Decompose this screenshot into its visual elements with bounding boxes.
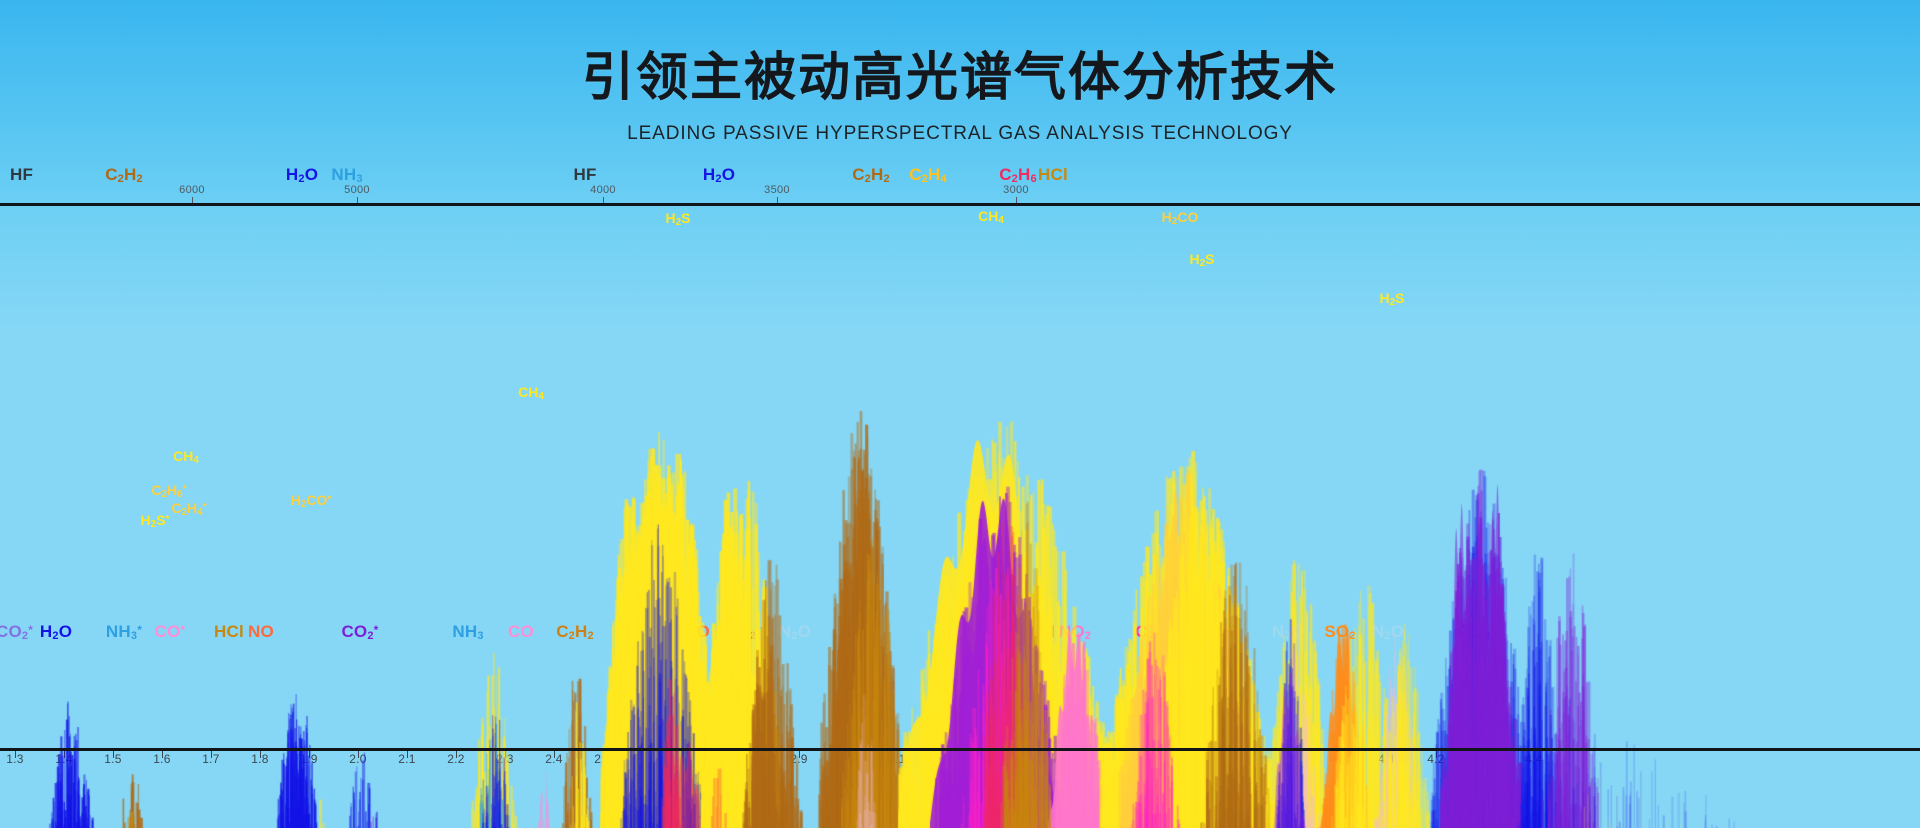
gas-label-c2h6: C2H6 — [999, 165, 1037, 185]
gas-label-ch4-mid: CH4 — [518, 384, 544, 402]
gas-label-ch4-left: CH4 — [173, 448, 199, 466]
page-title: 引领主被动高光谱气体分析技术 — [0, 50, 1920, 107]
spectral-banner: 引领主被动高光谱气体分析技术 LEADING PASSIVE HYPERSPEC… — [0, 0, 1920, 828]
gas-label-h2s-star: H2S* — [141, 512, 170, 530]
top-tick-label: 3000 — [1003, 184, 1029, 196]
gas-label-c2h2: C2H2 — [105, 165, 143, 185]
gas-label-h2o: H2O — [703, 165, 735, 185]
spectrum-canvas — [0, 406, 1920, 828]
gas-label-h2co-star: H2CO* — [291, 492, 332, 510]
gas-label-hcl: HCl — [1038, 165, 1068, 185]
gas-label-h2s-2: H2S — [1189, 251, 1214, 269]
axis-bottom-line — [0, 748, 1920, 751]
gas-label-h2s-1: H2S — [665, 210, 690, 228]
gas-label-c2h4-star: C2H4* — [171, 500, 206, 518]
top-tick-label: 3500 — [764, 184, 790, 196]
spectrum-plot — [0, 200, 1920, 748]
top-tick-label: 6000 — [179, 184, 205, 196]
gas-label-hf: HF — [10, 165, 33, 185]
gas-label-h2s-3: H2S — [1379, 290, 1404, 308]
gas-label-c2h6-star: C2H6* — [151, 482, 186, 500]
top-tick-label: 4000 — [590, 184, 616, 196]
gas-label-h2o: H2O — [286, 165, 318, 185]
gas-label-nh3: NH3 — [331, 165, 362, 185]
gas-label-ch4-right: CH4 — [978, 208, 1004, 226]
gas-label-h2co: H2CO — [1162, 209, 1199, 227]
top-tick-label: 5000 — [344, 184, 370, 196]
gas-label-c2h2: C2H2 — [852, 165, 890, 185]
gas-label-c2h4: C2H4 — [909, 165, 947, 185]
axis-top-line — [0, 203, 1920, 206]
page-subtitle: LEADING PASSIVE HYPERSPECTRAL GAS ANALYS… — [0, 123, 1920, 145]
gas-label-hf: HF — [573, 165, 596, 185]
